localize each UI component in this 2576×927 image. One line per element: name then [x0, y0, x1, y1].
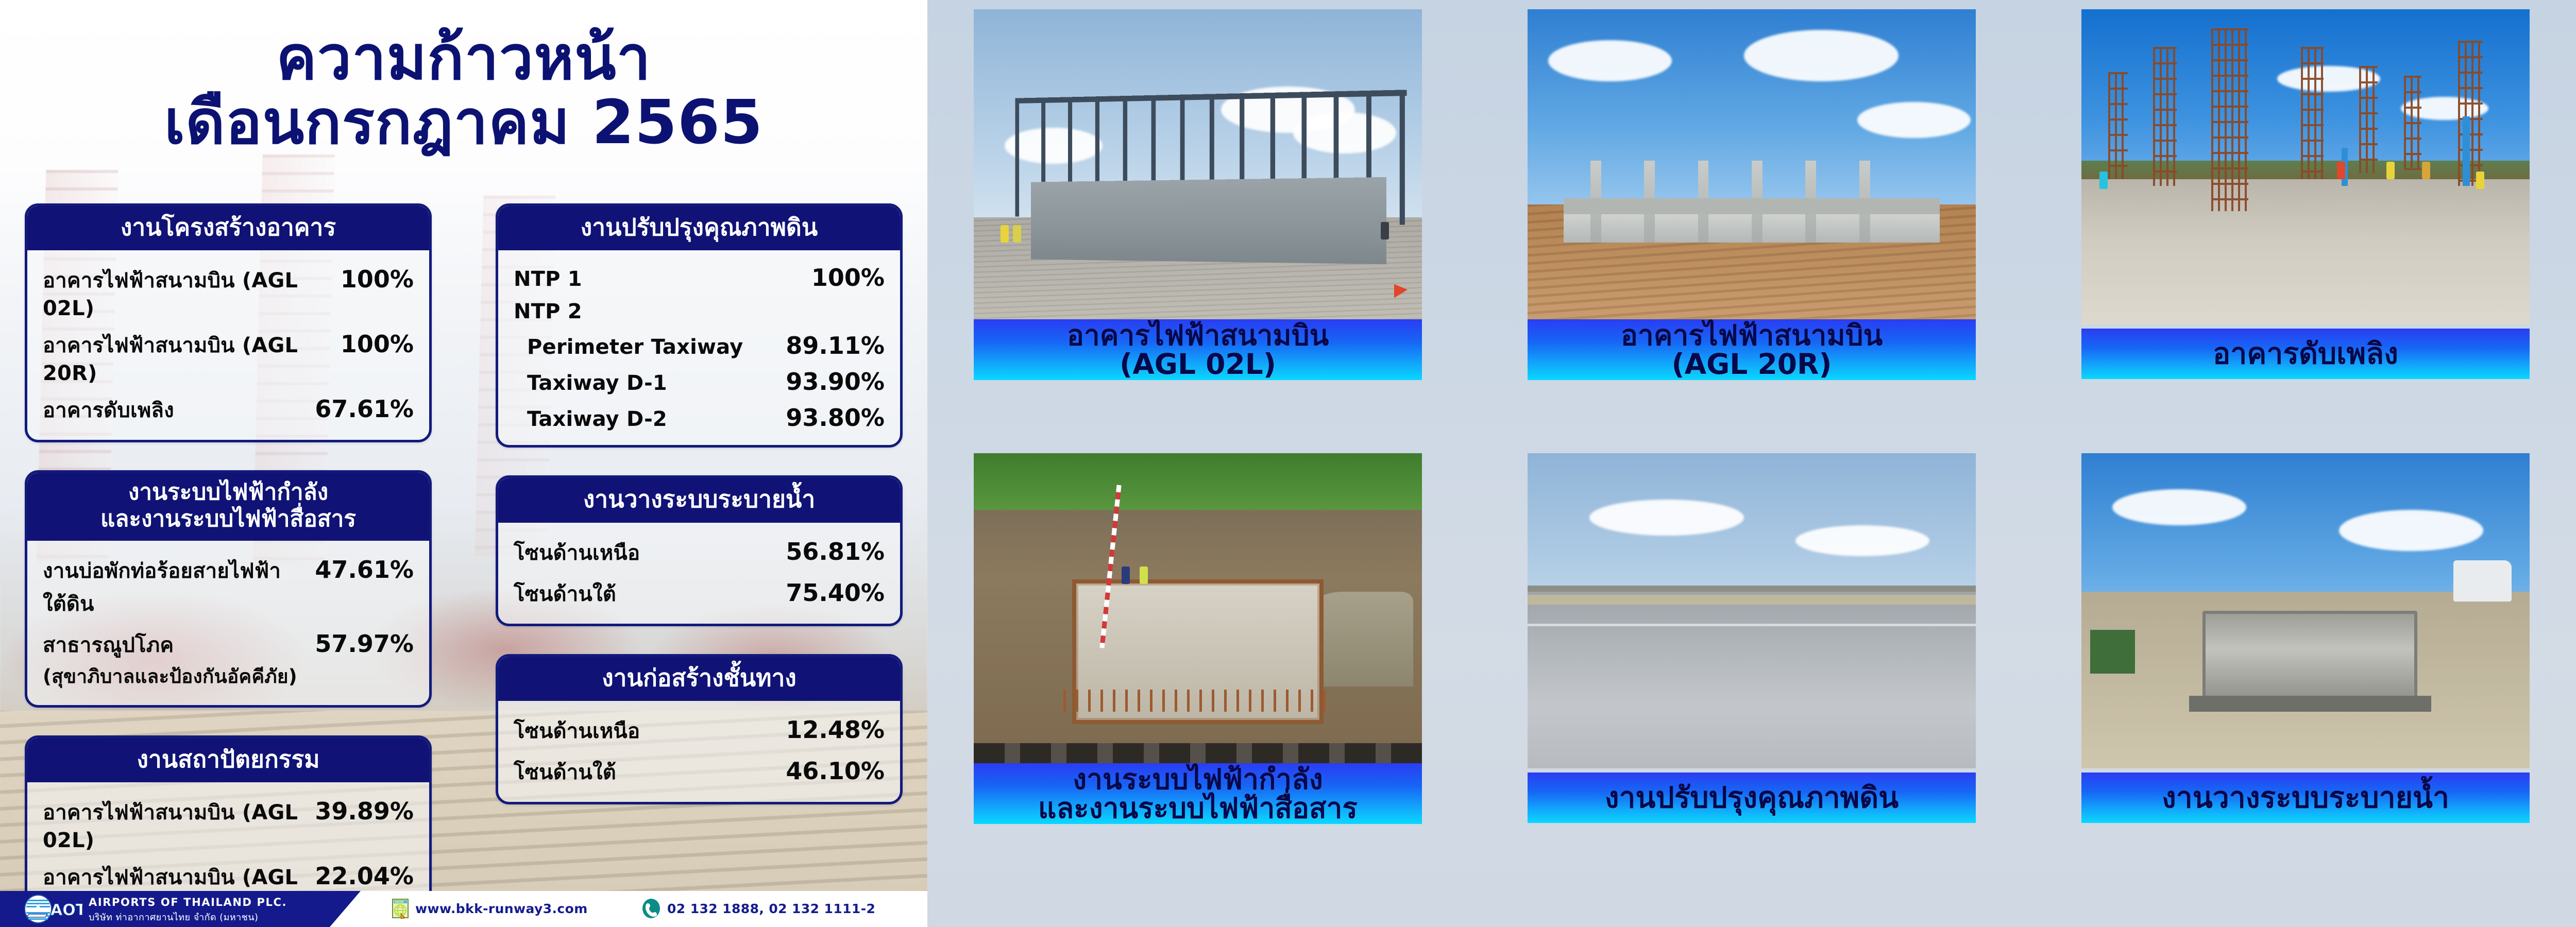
worker: [2422, 162, 2430, 179]
data-row: Perimeter Taxiway 89.11%: [514, 332, 885, 359]
taxiway-pavement: [1528, 592, 1976, 768]
title-line-1: ความก้าวหน้า: [0, 26, 927, 90]
grass: [974, 453, 1422, 510]
phone-text: 02 132 1888, 02 132 1111-2: [667, 901, 875, 916]
data-row: อาคารไฟฟ้าสนามบิน (AGL 20R) 100%: [43, 329, 414, 385]
photo-cell-agl-20r: อาคารไฟฟ้าสนามบิน(AGL 20R): [1528, 9, 1976, 380]
card-title: งานวางระบบระบายน้ำ: [498, 478, 900, 522]
worker: [1122, 566, 1130, 584]
worker: [2386, 162, 2395, 179]
data-row: งานบ่อพักท่อร้อยสายไฟฟ้าใต้ดิน 47.61%: [43, 554, 414, 620]
svg-text:AOT: AOT: [50, 901, 82, 919]
photo-caption: งานระบบไฟฟ้ากำลังและงานระบบไฟฟ้าสื่อสาร: [974, 763, 1422, 824]
aot-brand-text: AIRPORTS OF THAILAND PLC. บริษัท ท่าอากา…: [89, 896, 287, 924]
data-row: สาธารณูปโภค (สุขาภิบาลและป้องกันอัคคีภัย…: [43, 628, 414, 692]
concrete-walls: [1031, 177, 1386, 264]
row-label-main: สาธารณูปโภค: [43, 633, 174, 657]
card-electrical-systems: งานระบบไฟฟ้ากำลัง และงานระบบไฟฟ้าสื่อสาร…: [25, 470, 432, 708]
data-row: โซนด้านใต้ 75.40%: [514, 577, 885, 610]
org-name-th: บริษัท ท่าอากาศยานไทย จำกัด (มหาชน): [89, 909, 287, 924]
photo-caption: อาคารดับเพลิง: [2081, 329, 2530, 379]
rebar-cage: [2301, 47, 2324, 179]
card-body: งานบ่อพักท่อร้อยสายไฟฟ้าใต้ดิน 47.61% สา…: [27, 541, 429, 705]
website-link[interactable]: www.bkk-runway3.com: [392, 898, 588, 919]
row-label: NTP 2: [514, 300, 582, 323]
data-row: โซนด้านเหนือ 12.48%: [514, 714, 885, 747]
caption-text: อาคารไฟฟ้าสนามบิน(AGL 20R): [1621, 321, 1883, 379]
card-pavement-construction: งานก่อสร้างชั้นทาง โซนด้านเหนือ 12.48% โ…: [496, 654, 903, 804]
shoulder: [1528, 595, 1976, 604]
row-value: 93.90%: [786, 368, 885, 396]
progress-cards: งานโครงสร้างอาคาร อาคารไฟฟ้าสนามบิน (AGL…: [0, 203, 927, 837]
pickup-truck: [2453, 560, 2512, 602]
cards-column-right: งานปรับปรุงคุณภาพดิน NTP 1 100% NTP 2 Pe…: [496, 203, 903, 832]
photo-steel-frame-building: [974, 9, 1422, 324]
data-row: โซนด้านใต้ 46.10%: [514, 756, 885, 788]
caption-text: งานวางระบบระบายน้ำ: [2162, 783, 2449, 813]
data-row: NTP 1 100%: [514, 264, 885, 291]
row-value: 75.40%: [786, 579, 885, 607]
row-value: 100%: [811, 264, 885, 291]
row-label: โซนด้านใต้: [514, 756, 616, 788]
left-data-panel: ความก้าวหน้า เดือนกรกฎาคม 2565 งานโครงสร…: [0, 0, 927, 927]
phone-icon: [641, 898, 661, 919]
cloud: [2112, 489, 2246, 525]
cloud: [1589, 500, 1744, 536]
row-label: Taxiway D-2: [514, 407, 667, 431]
row-label: โซนด้านใต้: [514, 577, 616, 610]
worker: [1140, 566, 1148, 584]
worker: [2099, 171, 2108, 189]
globe-icon: [392, 898, 409, 919]
photo-caption: งานปรับปรุงคุณภาพดิน: [1528, 772, 1976, 823]
card-title: งานโครงสร้างอาคาร: [27, 206, 429, 250]
row-value: 89.11%: [786, 332, 885, 359]
card-drainage-system: งานวางระบบระบายน้ำ โซนด้านเหนือ 56.81% โ…: [496, 475, 903, 626]
photo-concrete-deck-building: [1528, 9, 1976, 324]
row-value: 93.80%: [786, 404, 885, 432]
rebar-cage: [2211, 28, 2248, 211]
caption-text: งานระบบไฟฟ้ากำลังและงานระบบไฟฟ้าสื่อสาร: [1038, 765, 1358, 822]
row-label-sub: (สุขาภิบาลและป้องกันอัคคีภัย): [43, 661, 297, 692]
card-soil-improvement: งานปรับปรุงคุณภาพดิน NTP 1 100% NTP 2 Pe…: [496, 203, 903, 448]
worker: [1001, 225, 1009, 243]
photo-cell-electrical: งานระบบไฟฟ้ากำลังและงานระบบไฟฟ้าสื่อสาร: [974, 453, 1422, 824]
row-value: 67.61%: [315, 395, 414, 423]
worker: [1013, 225, 1021, 243]
row-label: อาคารไฟฟ้าสนามบิน (AGL 02L): [43, 264, 328, 320]
photo-rebar-columns-slab: [2081, 9, 2530, 324]
card-title-line-2: และงานระบบไฟฟ้าสื่อสาร: [37, 506, 420, 533]
photo-cell-agl-02l: อาคารไฟฟ้าสนามบิน(AGL 02L): [974, 9, 1422, 380]
photo-caption: อาคารไฟฟ้าสนามบิน(AGL 02L): [974, 319, 1422, 380]
photo-caption: อาคารไฟฟ้าสนามบิน(AGL 20R): [1528, 319, 1976, 380]
rebar-cage: [2359, 66, 2378, 173]
blue-pipe: [2463, 116, 2470, 186]
row-label: โซนด้านเหนือ: [514, 536, 640, 569]
caption-text: อาคารดับเพลิง: [2213, 339, 2398, 369]
data-row: อาคารไฟฟ้าสนามบิน (AGL 02L) 100%: [43, 264, 414, 320]
card-title: งานก่อสร้างชั้นทาง: [498, 657, 900, 701]
row-value: 47.61%: [315, 556, 414, 583]
row-value: 100%: [341, 330, 414, 358]
data-row: โซนด้านเหนือ 56.81%: [514, 536, 885, 569]
ground: [2081, 179, 2530, 324]
cloud: [1857, 102, 1971, 138]
row-value: 100%: [341, 265, 414, 293]
data-row: อาคารดับเพลิง 67.61%: [43, 393, 414, 426]
green-bin: [2090, 630, 2135, 674]
worker: [2337, 162, 2345, 179]
rebar-top: [1063, 690, 1332, 712]
cloud: [1744, 30, 1899, 81]
row-label: Taxiway D-1: [514, 371, 667, 395]
rebar-cage: [2108, 72, 2128, 179]
card-building-structure: งานโครงสร้างอาคาร อาคารไฟฟ้าสนามบิน (AGL…: [25, 203, 432, 442]
worker: [2476, 171, 2484, 189]
parapet: [1564, 198, 1940, 214]
row-value: 39.89%: [315, 797, 414, 825]
row-label: สาธารณูปโภค (สุขาภิบาลและป้องกันอัคคีภัย…: [43, 628, 297, 692]
row-label: โซนด้านเหนือ: [514, 714, 640, 747]
data-row: Taxiway D-1 93.90%: [514, 368, 885, 396]
row-label: อาคารไฟฟ้าสนามบิน (AGL 02L): [43, 796, 302, 852]
card-body: โซนด้านเหนือ 56.81% โซนด้านใต้ 75.40%: [498, 523, 900, 624]
data-row: Taxiway D-2 93.80%: [514, 404, 885, 432]
data-row: อาคารไฟฟ้าสนามบิน (AGL 02L) 39.89%: [43, 796, 414, 852]
row-value: 57.97%: [315, 630, 414, 658]
caption-text: งานปรับปรุงคุณภาพดิน: [1605, 783, 1899, 813]
photo-cell-drainage: งานวางระบบระบายน้ำ: [2081, 453, 2530, 824]
aot-logo-icon: AOT: [21, 895, 82, 923]
photo-cell-soil-improvement: งานปรับปรุงคุณภาพดิน: [1528, 453, 1976, 824]
row-label: NTP 1: [514, 267, 582, 291]
rebar-cage: [2404, 76, 2421, 170]
card-body: อาคารไฟฟ้าสนามบิน (AGL 02L) 100% อาคารไฟ…: [27, 250, 429, 440]
cloud: [2339, 510, 2483, 551]
phone-contact[interactable]: 02 132 1888, 02 132 1111-2: [641, 898, 875, 919]
row-value: 22.04%: [315, 862, 414, 890]
title-line-2: เดือนกรกฎาคม 2565: [0, 90, 927, 154]
rebar-cage: [2458, 41, 2483, 186]
card-title-line-1: งานระบบไฟฟ้ากำลัง: [37, 479, 420, 506]
cloud: [1548, 40, 1672, 81]
row-value: 46.10%: [786, 757, 885, 785]
card-body: NTP 1 100% NTP 2 Perimeter Taxiway 89.11…: [498, 250, 900, 445]
card-body: โซนด้านเหนือ 12.48% โซนด้านใต้ 46.10%: [498, 701, 900, 802]
worker: [1381, 222, 1389, 239]
row-label: อาคารดับเพลิง: [43, 393, 174, 426]
cloud: [1795, 525, 1929, 556]
row-label: อาคารไฟฟ้าสนามบิน (AGL 20R): [43, 329, 328, 385]
org-name-en: AIRPORTS OF THAILAND PLC.: [89, 896, 287, 908]
row-value: 56.81%: [786, 538, 885, 565]
infographic-root: ความก้าวหน้า เดือนกรกฎาคม 2565 งานโครงสร…: [0, 0, 2576, 927]
photo-precast-culvert: [2081, 453, 2530, 768]
data-row: NTP 2: [514, 300, 885, 323]
photo-caption: งานวางระบบระบายน้ำ: [2081, 772, 2530, 823]
row-label: Perimeter Taxiway: [514, 335, 743, 359]
card-title: งานสถาปัตยกรรม: [27, 738, 429, 782]
rebar-cage: [2153, 47, 2177, 185]
card-title: งานระบบไฟฟ้ากำลัง และงานระบบไฟฟ้าสื่อสาร: [27, 473, 429, 541]
row-value: 12.48%: [786, 716, 885, 744]
photo-grid: อาคารไฟฟ้าสนามบิน(AGL 02L): [927, 0, 2576, 927]
cards-column-left: งานโครงสร้างอาคาร อาคารไฟฟ้าสนามบิน (AGL…: [25, 203, 432, 927]
page-title: ความก้าวหน้า เดือนกรกฎาคม 2565: [0, 26, 927, 154]
footer-bar: AOT AIRPORTS OF THAILAND PLC. บริษัท ท่า…: [0, 891, 927, 927]
photo-excavated-pit-formwork: [974, 453, 1422, 768]
precast-box-culvert: [2202, 611, 2418, 706]
right-photo-panel: อาคารไฟฟ้าสนามบิน(AGL 02L): [927, 0, 2576, 927]
card-title: งานปรับปรุงคุณภาพดิน: [498, 206, 900, 250]
photo-cell-fire-station: อาคารดับเพลิง: [2081, 9, 2530, 380]
culvert-base: [2189, 696, 2431, 712]
website-text: www.bkk-runway3.com: [415, 901, 588, 916]
caption-text: อาคารไฟฟ้าสนามบิน(AGL 02L): [1067, 321, 1329, 379]
photo-paved-taxiway: [1528, 453, 1976, 768]
row-label: งานบ่อพักท่อร้อยสายไฟฟ้าใต้ดิน: [43, 554, 302, 620]
